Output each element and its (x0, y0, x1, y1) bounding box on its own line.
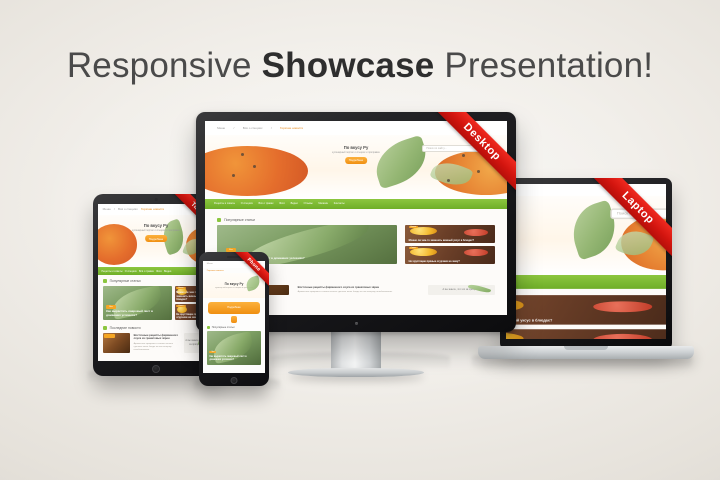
hamburger-menu-icon[interactable] (231, 316, 238, 322)
popular-grid: Новое Можно ли чем-то заменить винный ук… (506, 296, 666, 339)
tomato-image (593, 301, 652, 313)
laptop-lid: Меню Горячие новости Поиск по сайту... О… (500, 178, 672, 350)
phone-speaker-icon (227, 256, 241, 258)
breadcrumb-home[interactable]: Меню (103, 207, 111, 211)
breadcrumb-sep-1: / (234, 126, 235, 130)
search-input[interactable]: Поиск по сайту... (611, 208, 666, 219)
site-body: Новое Можно ли чем-то заменить винный ук… (506, 288, 666, 339)
device-laptop[interactable]: Меню Горячие новости Поиск по сайту... О… (500, 178, 672, 350)
nav-item-4[interactable]: Видео (291, 202, 298, 205)
side-card-1[interactable]: Совет Не хрустящие пряные огурчики на зи… (506, 329, 666, 339)
logo-tagline: кулинарный портал о специях и приправах (332, 151, 380, 154)
peppercorn-icon (462, 154, 465, 157)
breadcrumb: Меню Горячие новости (506, 184, 666, 196)
featured-card[interactable]: Хит Как вырастить лавровый лист в домашн… (207, 331, 262, 365)
section-icon (103, 326, 107, 330)
side-card-0-caption: Можно ли чем-то заменить винный уксус в … (506, 318, 661, 323)
side-card-1-tag: Совет (409, 247, 418, 249)
presentation-stage: Responsive Showcase Presentation! Меню /… (0, 0, 720, 480)
featured-card-caption: Как вырастить лавровый лист в домашних у… (106, 310, 166, 318)
section-icon (217, 218, 221, 222)
breadcrumb-current: Горячие новости (280, 126, 303, 130)
desktop-stand-neck (331, 330, 381, 372)
side-card-0-caption: Можно ли чем-то заменить винный уксус в … (409, 239, 492, 242)
side-card-1-caption: Не хрустящие пряные огурчики на зиму? (409, 260, 492, 263)
section-icon (103, 279, 107, 283)
pepper-image (506, 332, 524, 339)
nav-item-2[interactable]: Всё о травах (259, 202, 274, 205)
nav-item-7[interactable]: Контакты (334, 202, 345, 205)
peppercorn-icon (241, 153, 244, 156)
popular-section-header: Популярные статьи (217, 218, 495, 222)
news-excerpt: Ароматные приправы и свежая зелень сдела… (134, 343, 181, 353)
nav-item-6[interactable]: Магазин (318, 202, 328, 205)
title-part-1: Responsive (67, 46, 262, 85)
logo-tagline: кулинарный портал о специях и приправах (132, 229, 180, 232)
leaf-icon (245, 276, 262, 292)
site-nav[interactable]: О специях Всё о травах Магазин (506, 275, 666, 288)
laptop-base (478, 346, 694, 359)
tomato-image (464, 249, 487, 256)
site-hero: Поиск по сайту... (506, 196, 666, 275)
news-row: Восточные рецепты фирменного соуса из гр… (103, 333, 210, 353)
side-card-0[interactable]: Новое Можно ли чем-то заменить винный ук… (405, 225, 495, 243)
breadcrumb-sep-1: / (114, 207, 115, 211)
nav-item-1[interactable]: О специях (241, 202, 253, 205)
breadcrumb-sep-2: / (271, 126, 272, 130)
nav-item-5[interactable]: Отзывы (304, 202, 313, 205)
site-render-laptop: Меню Горячие новости Поиск по сайту... О… (506, 184, 666, 339)
side-card-0-tag: Новое (176, 287, 186, 289)
tomato-image (464, 229, 487, 236)
news-section: Последние новости Восточные рецепты фирм… (103, 326, 210, 353)
news-text: Восточные рецепты фирменного соуса из гр… (298, 285, 420, 295)
pepper-image (410, 227, 437, 235)
phone-screen[interactable]: Меню Поиск по сайту... Горячие новости П… (203, 261, 265, 373)
laptop-notch (564, 346, 608, 350)
nav-item-1[interactable]: О специях (125, 270, 137, 273)
laptop-screen[interactable]: Меню Горячие новости Поиск по сайту... О… (506, 184, 666, 339)
breadcrumb-home[interactable]: Меню (207, 263, 213, 265)
tablet-home-button[interactable] (152, 365, 160, 373)
featured-card[interactable]: Хит Как вырастить лавровый лист в домашн… (103, 286, 172, 321)
news-text: Восточные рецепты фирменного соуса из гр… (134, 333, 181, 353)
side-card-1-tag: Совет (176, 305, 185, 307)
nav-item-3[interactable]: Фото (279, 202, 285, 205)
featured-card-caption: Как вырастить лавровый лист в домашних у… (209, 356, 258, 362)
logo-name: По вкусу Ру (132, 223, 180, 228)
device-phone[interactable]: Меню Поиск по сайту... Горячие новости П… (199, 252, 269, 386)
side-card-column: Новое Можно ли чем-то заменить винный ук… (405, 225, 495, 264)
phone-home-button[interactable] (231, 377, 238, 384)
breadcrumb-section[interactable]: Всё о специях (118, 207, 138, 211)
nav-item-0[interactable]: Рецепты и советы (214, 202, 235, 205)
apple-logo-icon (355, 322, 358, 325)
popular-section-header: Популярные статьи (103, 279, 210, 283)
breadcrumb-current: Горячие новости (141, 207, 164, 211)
news-excerpt: Ароматные приправы и свежая зелень сдела… (298, 291, 420, 294)
popular-section-header: Популярные статьи (203, 326, 265, 329)
site-render-phone: Меню Поиск по сайту... Горячие новости П… (203, 261, 265, 373)
hero-cta-button[interactable]: Подробнее (208, 302, 260, 314)
logo-name: По вкусу Ру (225, 282, 244, 286)
news-section-header: Последние новости (103, 326, 210, 330)
nav-item-3[interactable]: Фото (156, 270, 162, 273)
desktop-stand-base (288, 368, 424, 377)
popular-section-title: Популярные статьи (110, 279, 141, 283)
side-card-1[interactable]: Совет Не хрустящие пряные огурчики на зи… (405, 246, 495, 264)
popular-section-title: Популярные статьи (212, 326, 235, 329)
news-title[interactable]: Восточные рецепты фирменного соуса из гр… (134, 334, 181, 341)
featured-card-tag: Хит (226, 248, 236, 252)
search-input[interactable]: Поиск по сайту... (244, 263, 261, 265)
site-logo[interactable]: По вкусу Ру кулинарный портал о специях … (332, 145, 380, 164)
hero-cta-button[interactable]: Подробнее (345, 157, 367, 164)
nav-item-2[interactable]: Всё о травах (139, 270, 154, 273)
site-nav[interactable]: Рецепты и советы О специях Всё о травах … (205, 199, 507, 210)
spice-splash-left (205, 146, 308, 196)
breadcrumb-home[interactable]: Меню (217, 126, 225, 130)
mobile-topbar: Меню Поиск по сайту... (203, 261, 265, 268)
section-icon (207, 326, 210, 329)
side-card-column: Новое Можно ли чем-то заменить винный ук… (506, 296, 666, 339)
site-hero: По вкусу Ру кулинарный портал о специях … (205, 135, 507, 199)
hero-cta-button[interactable]: Подробнее (145, 235, 167, 242)
news-aside: А вы знаете, что это за приправа? (428, 285, 495, 295)
popular-grid: Хит Как вырастить лавровый лист в домашн… (103, 286, 210, 321)
peppercorn-icon (477, 170, 480, 173)
page-title: Responsive Showcase Presentation! (0, 46, 720, 86)
breadcrumb: Меню / Всё о специях / Горячие новости (205, 121, 507, 135)
title-part-2: Presentation! (434, 46, 653, 85)
side-card-0[interactable]: Новое Можно ли чем-то заменить винный ук… (506, 296, 666, 325)
news-section-title: Последние новости (110, 326, 141, 330)
news-title[interactable]: Восточные рецепты фирменного соуса из гр… (298, 286, 420, 290)
nav-item-0[interactable]: Рецепты и советы (101, 270, 122, 273)
search-input[interactable]: Поиск по сайту... (422, 145, 494, 152)
phone-frame: Меню Поиск по сайту... Горячие новости П… (199, 252, 269, 386)
breadcrumb-section[interactable]: Всё о специях (243, 126, 263, 130)
mobile-hero: По вкусу Ру кулинарный портал о специях … (203, 273, 265, 298)
nav-item-4[interactable]: Видео (164, 270, 171, 273)
news-thumbnail[interactable] (103, 333, 131, 353)
title-bold: Showcase (262, 46, 435, 85)
tablet-camera-icon (155, 198, 158, 201)
site-logo[interactable]: По вкусу Ру кулинарный портал о специях … (132, 223, 180, 242)
popular-section-title: Популярные статьи (224, 218, 255, 222)
logo-name: По вкусу Ру (332, 145, 380, 150)
news-thumb-tag (104, 334, 115, 337)
